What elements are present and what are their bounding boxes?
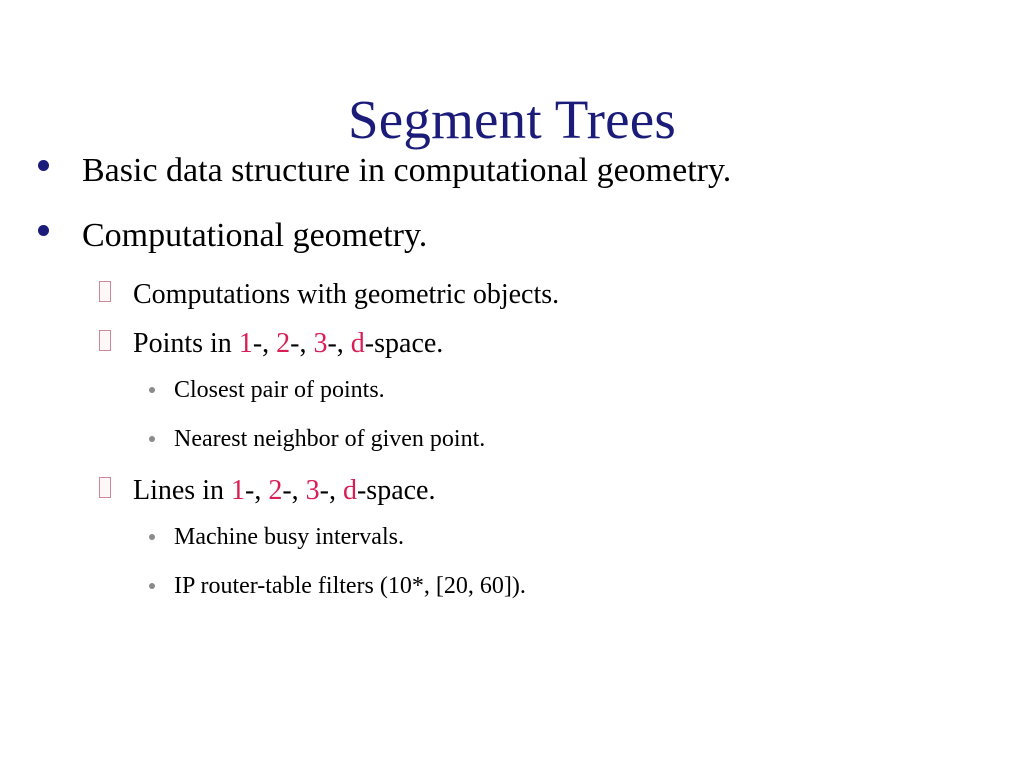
- bullet-level3-ip-router-table-filters: IP router-table filters (10*, [20, 60]).: [0, 567, 1024, 616]
- bullet-level2-lines-in-d-space: Lines in 1-, 2-, 3-, d-space.: [0, 469, 1024, 518]
- bullet-level3-closest-pair-of-points: Closest pair of points.: [0, 371, 1024, 420]
- bullet-text: Points in 1-, 2-, 3-, d-space.: [133, 322, 443, 365]
- bullet-text: Machine busy intervals.: [174, 518, 404, 556]
- bullet-text: Nearest neighbor of given point.: [174, 420, 485, 458]
- small-gray-dot-icon: [149, 371, 174, 393]
- tofu-box-icon: [99, 322, 133, 351]
- separator-3: -,: [327, 328, 350, 359]
- round-bullet-icon: [36, 143, 82, 199]
- dimension-d: d: [343, 475, 357, 506]
- bullet-text: Lines in 1-, 2-, 3-, d-space.: [133, 469, 436, 512]
- bullet-text: Computations with geometric objects.: [133, 273, 559, 316]
- bullet-text: Computational geometry.: [82, 208, 427, 264]
- dimension-1: 1: [239, 328, 253, 359]
- bullet-level3-nearest-neighbor-of-given-point: Nearest neighbor of given point.: [0, 420, 1024, 469]
- small-gray-dot-icon: [149, 567, 174, 589]
- separator-3: -,: [320, 475, 343, 506]
- bullet-text: IP router-table filters (10*, [20, 60]).: [174, 567, 526, 605]
- tofu-box-icon: [99, 469, 133, 498]
- slide-body-content: Basic data structure in computational ge…: [0, 143, 1024, 616]
- separator-1: -,: [253, 328, 276, 359]
- small-gray-dot-icon: [149, 518, 174, 540]
- small-gray-dot-icon: [149, 420, 174, 442]
- bullet-text-suffix: -space.: [365, 328, 444, 359]
- dimension-3: 3: [313, 328, 327, 359]
- slide-canvas: Segment Trees Basic data structure in co…: [0, 0, 1024, 768]
- bullet-level1-computational-geometry: Computational geometry.: [0, 208, 1024, 273]
- dimension-2: 2: [268, 475, 282, 506]
- separator-2: -,: [290, 328, 313, 359]
- page-title: Segment Trees: [0, 89, 1024, 151]
- bullet-level2-computations-with-geometric-objects: Computations with geometric objects.: [0, 273, 1024, 322]
- bullet-text-prefix: Points in: [133, 328, 239, 359]
- tofu-box-icon: [99, 273, 133, 302]
- dimension-3: 3: [306, 475, 320, 506]
- round-bullet-icon: [36, 208, 82, 264]
- bullet-level3-machine-busy-intervals: Machine busy intervals.: [0, 518, 1024, 567]
- dimension-d: d: [351, 328, 365, 359]
- bullet-text: Closest pair of points.: [174, 371, 385, 409]
- dimension-1: 1: [231, 475, 245, 506]
- bullet-text: Basic data structure in computational ge…: [82, 143, 731, 199]
- bullet-level1-basic-data-structure: Basic data structure in computational ge…: [0, 143, 1024, 208]
- separator-2: -,: [282, 475, 305, 506]
- bullet-text-prefix: Lines in: [133, 475, 231, 506]
- bullet-level2-points-in-d-space: Points in 1-, 2-, 3-, d-space.: [0, 322, 1024, 371]
- dimension-2: 2: [276, 328, 290, 359]
- bullet-text-suffix: -space.: [357, 475, 436, 506]
- separator-1: -,: [245, 475, 268, 506]
